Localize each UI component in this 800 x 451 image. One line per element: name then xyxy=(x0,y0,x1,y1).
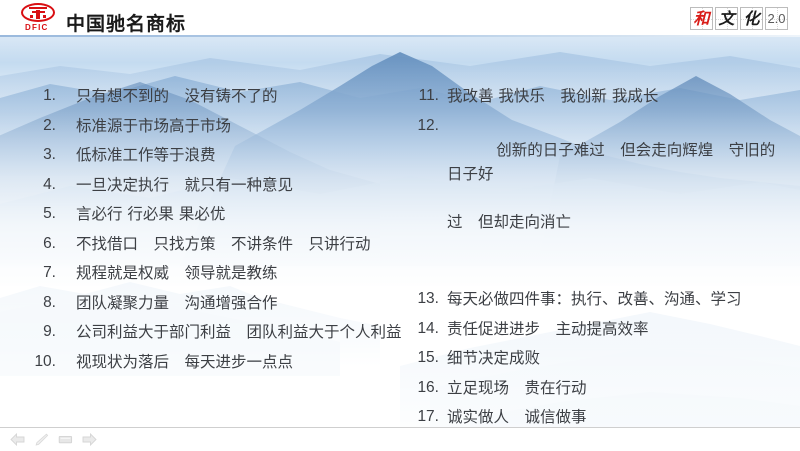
list-item: 11. 我改善 我快乐 我创新 我成长 xyxy=(415,84,790,108)
list-item-number: 12. xyxy=(415,114,439,138)
list-item-number: 15. xyxy=(415,346,439,370)
list-item-number: 8. xyxy=(30,291,56,315)
list-item: 13. 每天必做四件事：执行、改善、沟通、学习 xyxy=(415,287,790,311)
pen-icon xyxy=(34,433,49,446)
calligraphy-cell-version: 2.0 xyxy=(765,7,788,30)
list-item: 4. 一旦决定执行 就只有一种意见 xyxy=(30,173,415,197)
list-item-number: 11. xyxy=(415,84,439,108)
hewenhua-calligraphy-badge: 和 文 化 2.0 xyxy=(690,7,788,30)
list-item-text: 团队凝聚力量 沟通增强合作 xyxy=(76,291,415,315)
rectangle-menu-icon xyxy=(58,433,73,446)
list-item-text: 每天必做四件事：执行、改善、沟通、学习 xyxy=(447,287,790,311)
list-column-right: 11. 我改善 我快乐 我创新 我成长 12. 创新的日子难过 但会走向辉煌 守… xyxy=(415,84,790,451)
list-item: 12. 创新的日子难过 但会走向辉煌 守旧的日子好 过 但却走向消亡 xyxy=(415,114,790,282)
list-item-text: 不找借口 只找方策 不讲条件 只讲行动 xyxy=(76,232,415,256)
list-column-left: 1. 只有想不到的 没有铸不了的 2. 标准源于市场高于市场 3. 低标准工作等… xyxy=(30,84,415,379)
calligraphy-char-hua: 化 xyxy=(743,11,759,27)
list-item-text: 言必行 行必果 果必优 xyxy=(76,202,415,226)
list-item: 9. 公司利益大于部门利益 团队利益大于个人利益 xyxy=(30,320,415,344)
list-item: 8. 团队凝聚力量 沟通增强合作 xyxy=(30,291,415,315)
calligraphy-cell-wen: 文 xyxy=(715,7,738,30)
list-item-text: 诚实做人 诚信做事 xyxy=(447,405,790,429)
list-item: 2. 标准源于市场高于市场 xyxy=(30,114,415,138)
list-item-number: 17. xyxy=(415,405,439,429)
presentation-toolbar xyxy=(0,427,800,451)
calligraphy-version-label: 2.0 xyxy=(767,12,785,25)
list-item-text-continuation: 过 但却走向消亡 xyxy=(447,210,790,234)
list-item-text: 责任促进进步 主动提高效率 xyxy=(447,317,790,341)
right-arrow-icon xyxy=(82,433,97,446)
list-item-text: 低标准工作等于浪费 xyxy=(76,143,415,167)
list-item: 10. 视现状为落后 每天进步一点点 xyxy=(30,350,415,374)
list-item-text: 公司利益大于部门利益 团队利益大于个人利益 xyxy=(76,320,415,344)
list-item-number: 3. xyxy=(30,143,56,167)
slide-menu-button[interactable] xyxy=(55,431,76,449)
list-item-text: 标准源于市场高于市场 xyxy=(76,114,415,138)
list-item-text: 规程就是权威 领导就是教练 xyxy=(76,261,415,285)
dfic-logo-text: DFIC xyxy=(25,23,48,32)
list-item-number: 7. xyxy=(30,261,56,285)
list-item: 16. 立足现场 贵在行动 xyxy=(415,376,790,400)
list-item-number: 14. xyxy=(415,317,439,341)
list-item-text-line1: 创新的日子难过 但会走向辉煌 守旧的日子好 xyxy=(447,141,775,183)
slide-body: 1. 只有想不到的 没有铸不了的 2. 标准源于市场高于市场 3. 低标准工作等… xyxy=(0,36,800,436)
list-item: 1. 只有想不到的 没有铸不了的 xyxy=(30,84,415,108)
dfic-emblem-icon xyxy=(29,7,47,19)
list-item: 3. 低标准工作等于浪费 xyxy=(30,143,415,167)
calligraphy-cell-he: 和 xyxy=(690,7,713,30)
list-item-text: 细节决定成败 xyxy=(447,346,790,370)
calligraphy-cell-hua: 化 xyxy=(740,7,763,30)
list-item-number: 5. xyxy=(30,202,56,226)
list-item-text: 立足现场 贵在行动 xyxy=(447,376,790,400)
header-divider xyxy=(0,35,800,37)
presentation-slide: DFIC 中国驰名商标 和 文 化 2.0 1. 只有想不到的 没有铸不了的 2… xyxy=(0,0,800,451)
list-item-text: 我改善 我快乐 我创新 我成长 xyxy=(447,84,790,108)
list-item-number: 9. xyxy=(30,320,56,344)
pen-tool-button[interactable] xyxy=(31,431,52,449)
list-item-number: 1. xyxy=(30,84,56,108)
list-item-number: 6. xyxy=(30,232,56,256)
list-item: 17. 诚实做人 诚信做事 xyxy=(415,405,790,429)
left-arrow-icon xyxy=(10,433,25,446)
list-item-number: 10. xyxy=(30,350,56,374)
list-item-text: 只有想不到的 没有铸不了的 xyxy=(76,84,415,108)
list-item-text: 视现状为落后 每天进步一点点 xyxy=(76,350,415,374)
list-item: 14. 责任促进进步 主动提高效率 xyxy=(415,317,790,341)
list-item-number: 2. xyxy=(30,114,56,138)
dfic-logo: DFIC xyxy=(21,3,57,33)
previous-slide-button[interactable] xyxy=(7,431,28,449)
list-item-number: 13. xyxy=(415,287,439,311)
next-slide-button[interactable] xyxy=(79,431,100,449)
brand-title: 中国驰名商标 xyxy=(66,9,186,36)
list-item: 15. 细节决定成败 xyxy=(415,346,790,370)
list-item: 6. 不找借口 只找方策 不讲条件 只讲行动 xyxy=(30,232,415,256)
list-item: 5. 言必行 行必果 果必优 xyxy=(30,202,415,226)
calligraphy-char-he: 和 xyxy=(693,11,709,27)
list-item-number: 4. xyxy=(30,173,56,197)
list-item-number: 16. xyxy=(415,376,439,400)
calligraphy-char-wen: 文 xyxy=(718,11,734,27)
list-item: 7. 规程就是权威 领导就是教练 xyxy=(30,261,415,285)
slide-header: DFIC 中国驰名商标 xyxy=(0,0,800,36)
list-item-text: 创新的日子难过 但会走向辉煌 守旧的日子好 过 但却走向消亡 xyxy=(447,114,790,282)
list-item-text: 一旦决定执行 就只有一种意见 xyxy=(76,173,415,197)
